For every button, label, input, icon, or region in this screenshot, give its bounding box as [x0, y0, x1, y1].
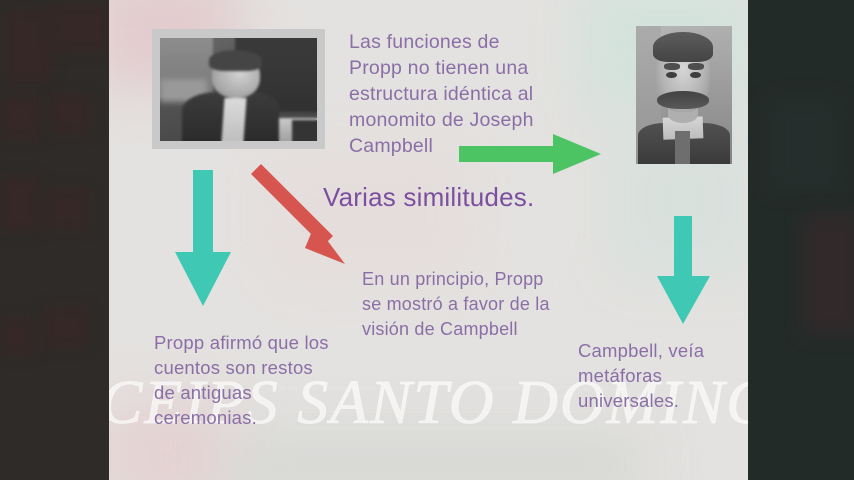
letterbox-left: [0, 0, 109, 480]
letterbox-texture: [768, 100, 838, 190]
letterbox-texture: [46, 188, 90, 230]
photo-content: [160, 38, 317, 141]
heading-text: Las funciones de Propp no tienen una est…: [349, 29, 579, 159]
background-tint: [229, 430, 649, 480]
center-note-text: En un principio, Propp se mostró a favor…: [362, 267, 588, 342]
letterbox-right: [748, 0, 854, 480]
photo-figure-brow: [664, 63, 680, 70]
letterbox-texture: [50, 94, 92, 134]
presentation-slide: CEIPS SANTO DOMINGO: [109, 0, 748, 480]
photo-figure-hair: [653, 32, 713, 62]
propp-portrait-photo: [152, 29, 325, 149]
teal-down-arrow-left-icon: [171, 168, 235, 310]
letterbox-texture: [0, 318, 34, 356]
letterbox-texture: [4, 10, 52, 82]
red-diagonal-arrow-icon: [247, 162, 362, 274]
bottom-right-text: Campbell, veía metáforas universales.: [578, 338, 748, 413]
photo-figure-moustache: [657, 91, 709, 109]
letterbox-texture: [44, 306, 88, 348]
teal-down-arrow-right-icon: [654, 214, 714, 328]
center-title-text: Varias similitudes.: [323, 181, 613, 213]
letterbox-texture: [0, 96, 40, 140]
photo-figure-brow: [688, 63, 704, 70]
bottom-left-text: Propp afirmó que los cuentos son restos …: [154, 330, 359, 430]
campbell-portrait-photo: [636, 26, 732, 164]
letterbox-texture: [52, 4, 110, 52]
letterbox-texture: [804, 214, 854, 334]
photo-blur-overlay: [160, 38, 317, 141]
photo-figure-tie: [675, 131, 689, 164]
letterbox-texture: [0, 176, 38, 232]
video-frame: CEIPS SANTO DOMINGO: [0, 0, 854, 480]
